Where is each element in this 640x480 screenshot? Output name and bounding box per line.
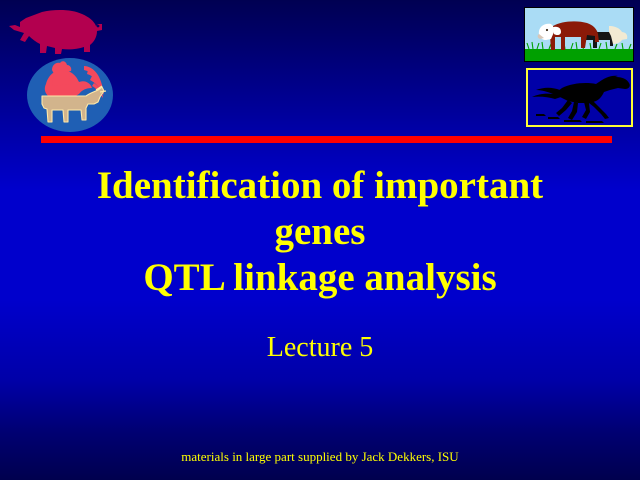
title-line-1: Identification of important bbox=[0, 163, 640, 209]
slide-subtitle: Lecture 5 bbox=[0, 332, 640, 364]
pig-silhouette-logo bbox=[6, 6, 104, 56]
footer-credit: materials in large part supplied by Jack… bbox=[0, 449, 640, 465]
rooster-and-cow-circle-logo bbox=[24, 56, 116, 134]
galloping-horse-photo bbox=[526, 68, 633, 127]
hereford-cattle-photo bbox=[524, 7, 634, 62]
title-line-3: QTL linkage analysis bbox=[0, 255, 640, 301]
title-slide: Identification of important genes QTL li… bbox=[0, 0, 640, 480]
title-line-2: genes bbox=[0, 209, 640, 255]
slide-title: Identification of important genes QTL li… bbox=[0, 163, 640, 301]
red-divider-bar bbox=[41, 136, 612, 143]
